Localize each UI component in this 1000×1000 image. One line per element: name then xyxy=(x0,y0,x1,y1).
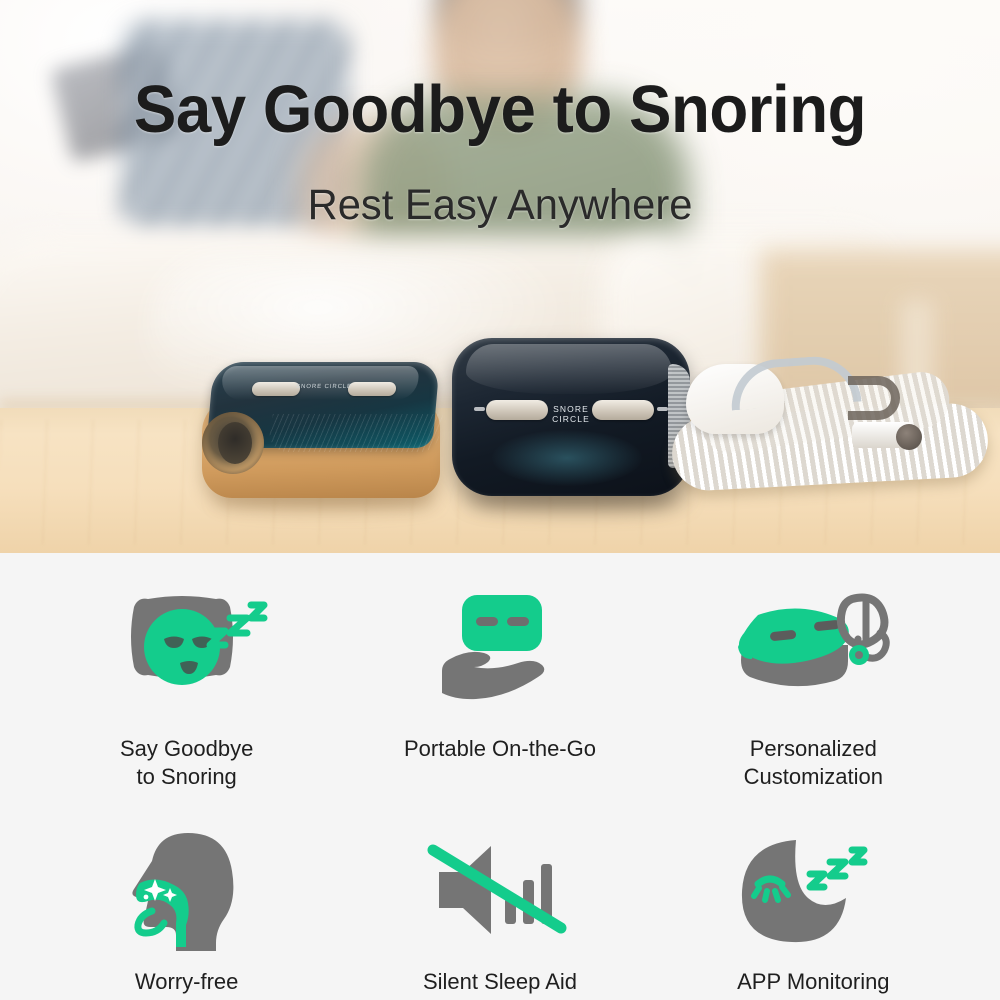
feature-item-portable-on-the-go: Portable On-the-Go xyxy=(343,583,656,830)
device-dark-indicator-right xyxy=(657,407,668,411)
feature-label: Say Goodbye to Snoring xyxy=(120,735,253,791)
feature-label: Personalized Customization xyxy=(744,735,883,791)
hose-connector-knob xyxy=(896,424,922,450)
pillow-sleeping-face-zzz-icon xyxy=(112,583,262,715)
device-dark-button-right xyxy=(592,400,654,420)
feature-grid: Say Goodbye to Snoring Portable On-the-G… xyxy=(0,553,1000,1000)
feature-label: APP Monitoring xyxy=(737,968,889,996)
feature-label-line1: Portable On-the-Go xyxy=(404,735,596,763)
feature-item-personalized-customization: Personalized Customization xyxy=(657,583,970,830)
device-dark-indicator-left xyxy=(474,407,485,411)
device-gold-air-port xyxy=(202,412,264,474)
feature-label: Silent Sleep Aid xyxy=(423,968,577,996)
moon-sleeping-eye-zzz-icon xyxy=(738,830,888,952)
feature-label: Worry-free Humidification xyxy=(118,968,256,1000)
feature-label-line1: Say Goodbye xyxy=(120,735,253,763)
feature-item-silent-sleep-aid: Silent Sleep Aid xyxy=(343,830,656,1000)
device-gold-mesh xyxy=(266,414,443,452)
feature-label: Portable On-the-Go xyxy=(404,735,596,763)
speaker-muted-icon xyxy=(425,830,575,952)
device-gold-brand-label: SNORE CIRCLE xyxy=(292,384,357,390)
mask-clip xyxy=(848,376,900,420)
hero-section: Say Goodbye to Snoring Rest Easy Anywher… xyxy=(0,0,1000,553)
feature-grid-section: Say Goodbye to Snoring Portable On-the-G… xyxy=(0,553,1000,1000)
feature-item-app-monitoring: APP Monitoring xyxy=(657,830,970,1000)
page-title: Say Goodbye to Snoring xyxy=(25,76,975,143)
page-subtitle: Rest Easy Anywhere xyxy=(15,184,985,227)
feature-label-line1: APP Monitoring xyxy=(737,968,889,996)
device-dark-gloss xyxy=(466,344,672,394)
cpap-hose-and-mask xyxy=(672,368,1000,518)
feature-label-line1: Silent Sleep Aid xyxy=(423,968,577,996)
feature-label-line2: to Snoring xyxy=(120,763,253,791)
product-device-dark: SNORE CIRCLE xyxy=(452,338,702,506)
device-gold-air-port-inner xyxy=(218,422,252,464)
device-on-hand-icon xyxy=(420,583,580,715)
device-dark-glow xyxy=(492,430,642,486)
product-device-gold: SNORE CIRCLE xyxy=(196,356,446,501)
feature-label-line2: Humidification xyxy=(118,996,256,1000)
feature-label-line1: Worry-free xyxy=(118,968,256,996)
feature-label-line1: Personalized xyxy=(744,735,883,763)
feature-item-say-goodbye-to-snoring: Say Goodbye to Snoring xyxy=(30,583,343,830)
device-with-mask-icon xyxy=(728,583,898,715)
head-airway-humidify-icon xyxy=(122,830,252,952)
feature-item-worry-free-humidification: Worry-free Humidification xyxy=(30,830,343,1000)
feature-label-line2: Customization xyxy=(744,763,883,791)
product-marketing-page: Say Goodbye to Snoring Rest Easy Anywher… xyxy=(0,0,1000,1000)
